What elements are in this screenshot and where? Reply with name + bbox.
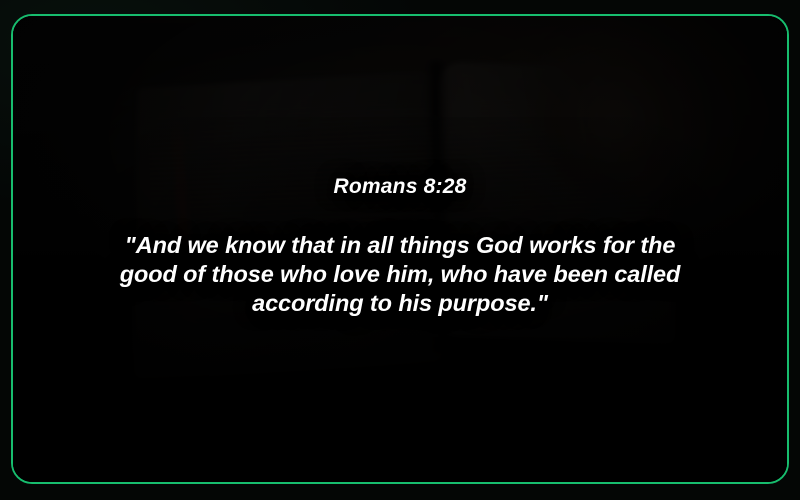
verse-quote-line-3: according to his purpose." bbox=[70, 289, 730, 318]
verse-graphic: Romans 8:28 "And we know that in all thi… bbox=[0, 0, 800, 500]
verse-reference: Romans 8:28 bbox=[13, 176, 787, 197]
verse-quote-line-1: "And we know that in all things God work… bbox=[70, 231, 730, 260]
verse-text-block: Romans 8:28 "And we know that in all thi… bbox=[13, 176, 787, 318]
verse-quote: "And we know that in all things God work… bbox=[70, 231, 730, 318]
verse-card: Romans 8:28 "And we know that in all thi… bbox=[11, 14, 789, 484]
verse-quote-line-2: good of those who love him, who have bee… bbox=[70, 260, 730, 289]
